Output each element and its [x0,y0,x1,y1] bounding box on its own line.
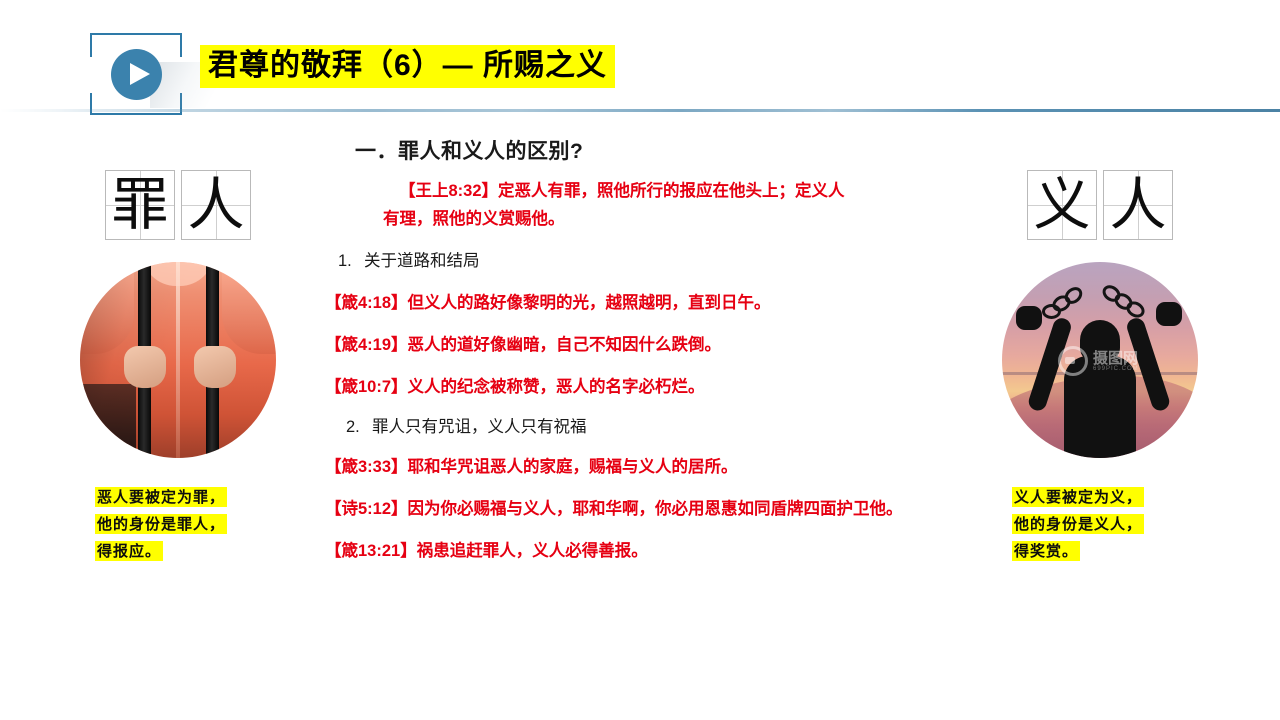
left-panel: 罪 人 恶人要被定为罪， 他的身份是罪人， 得报应。 [68,170,288,565]
verse-text: 但义人的路好像黎明的光，越照越明，直到日午。 [408,294,771,312]
grid-cell: 人 [1103,170,1173,240]
section-1-title: 关于道路和结局 [364,252,480,270]
right-caption: 义人要被定为义， 他的身份是义人， 得奖赏。 [1012,484,1210,565]
caption-line: 得奖赏。 [1012,538,1210,565]
main-content-column: 一．罪人和义人的区别? 【王上8:32】定恶人有罪，照他所行的报应在他头上；定义… [325,135,970,563]
verse-reference: 【诗5:12】 [325,500,408,518]
right-panel: 义 人 摄图网 699PIC.COM 义人要被定为义， [990,170,1210,565]
verse-item: 【箴13:21】祸患追赶罪人，义人必得善报。 [325,539,970,563]
freedom-silhouette-photo: 摄图网 699PIC.COM [1002,262,1198,458]
hand-shape [194,346,236,388]
caption-line: 恶人要被定为罪， [95,484,288,511]
section-2-title: 罪人只有咒诅，义人只有祝福 [372,418,587,436]
caption-text: 他的身份是义人， [1012,514,1144,534]
section-2-heading: 2.罪人只有咒诅，义人只有祝福 [346,413,970,437]
verse-text: 恶人的道好像幽暗，自己不知因什么跌倒。 [408,336,722,354]
section-1-heading: 1.关于道路和结局 [338,247,970,271]
silhouette-fist [1156,302,1182,326]
caption-text: 义人要被定为义， [1012,487,1144,507]
calligraphy-char: 人 [182,171,250,239]
verse-text: 因为你必赐福与义人，耶和华啊，你必用恩惠如同盾牌四面护卫他。 [408,500,903,518]
verse-item: 【箴10:7】义人的纪念被称赞，恶人的名字必朽烂。 [325,375,970,399]
grid-cell: 义 [1027,170,1097,240]
verse-reference: 【箴4:19】 [325,336,408,354]
section-group-1: 1.关于道路和结局 【箴4:18】但义人的路好像黎明的光，越照越明，直到日午。 … [325,247,970,399]
caption-line: 他的身份是义人， [1012,511,1210,538]
main-heading: 一．罪人和义人的区别? [355,135,970,165]
verse-reference: 【箴10:7】 [325,378,408,396]
shoulder-right-shape [222,262,276,354]
page-title: 君尊的敬拜（6）— 所赐之义 [200,45,615,88]
caption-text: 他的身份是罪人， [95,514,227,534]
verse-item: 【箴3:33】耶和华咒诅恶人的家庭，赐福与义人的居所。 [325,455,970,479]
verse-item: 【箴4:18】但义人的路好像黎明的光，越照越明，直到日午。 [325,291,970,315]
hand-shape [124,346,166,388]
verse-reference: 【箴13:21】 [325,542,417,560]
section-1-number: 1. [338,252,364,271]
left-word-grid-image: 罪 人 [68,170,288,240]
section-2-number: 2. [346,418,372,437]
grid-cell: 罪 [105,170,175,240]
verse-text: 义人的纪念被称赞，恶人的名字必朽烂。 [408,378,705,396]
right-word-grid-image: 义 人 [990,170,1210,240]
zipper-shape [176,262,180,458]
silhouette-fist [1016,306,1042,330]
calligraphy-char: 罪 [106,171,174,239]
verse-item: 【诗5:12】因为你必赐福与义人，耶和华啊，你必用恩惠如同盾牌四面护卫他。 [325,497,953,521]
verse-reference: 【箴4:18】 [325,294,408,312]
caption-text: 恶人要被定为罪， [95,487,227,507]
verse-reference: 【箴3:33】 [325,458,408,476]
play-triangle-glyph [130,63,150,85]
verse-text: 祸患追赶罪人，义人必得善报。 [417,542,648,560]
caption-line: 义人要被定为义， [1012,484,1210,511]
dark-background-shape [80,384,136,458]
caption-line: 得报应。 [95,538,288,565]
scripture-reference: 【王上8:32】 [399,182,498,200]
left-caption: 恶人要被定为罪， 他的身份是罪人， 得报应。 [95,484,288,565]
header-divider [0,109,1280,112]
caption-text: 得奖赏。 [1012,541,1080,561]
calligraphy-char: 人 [1104,171,1172,239]
verse-item: 【箴4:19】恶人的道好像幽暗，自己不知因什么跌倒。 [325,333,970,357]
shoulder-left-shape [80,262,134,354]
section-group-2: 2.罪人只有咒诅，义人只有祝福 【箴3:33】耶和华咒诅恶人的家庭，赐福与义人的… [325,413,970,563]
slide-header: 君尊的敬拜（6）— 所赐之义 [0,0,1280,120]
silhouette-body [1064,356,1136,458]
play-icon[interactable] [111,49,162,100]
prisoner-behind-bars-photo [80,262,276,458]
grid-cell: 人 [181,170,251,240]
calligraphy-char: 义 [1028,171,1096,239]
scripture-quote-kings: 【王上8:32】定恶人有罪，照他所行的报应在他头上；定义人有理，照他的义赏赐他。 [383,177,853,233]
verse-text: 耶和华咒诅恶人的家庭，赐福与义人的居所。 [408,458,738,476]
prisoner-photo-background [80,262,276,458]
caption-line: 他的身份是罪人， [95,511,288,538]
caption-text: 得报应。 [95,541,163,561]
